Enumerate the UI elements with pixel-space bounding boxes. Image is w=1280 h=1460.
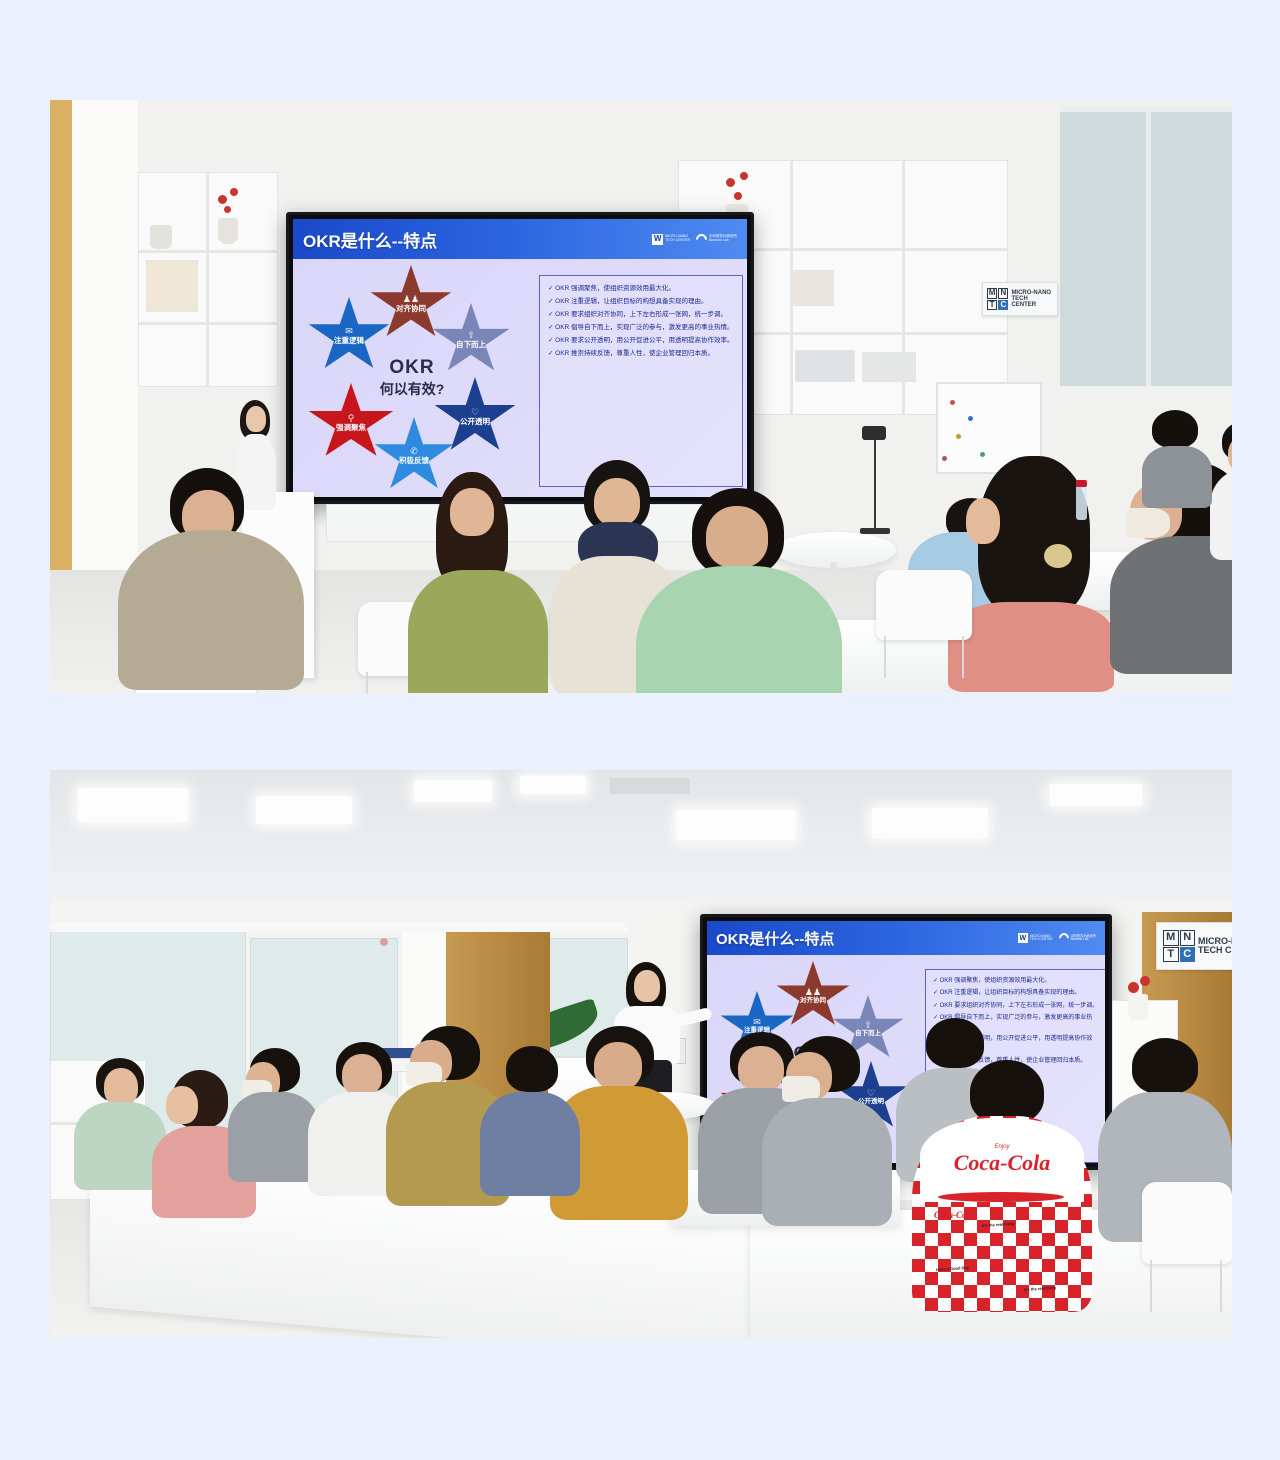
mic-base: [860, 528, 890, 534]
cola-brand-text: Coca-Cola: [954, 1150, 1051, 1176]
torso: [1210, 468, 1232, 560]
star-label: 自下而上: [456, 341, 486, 349]
head: [966, 498, 1000, 544]
flower-red: [218, 195, 227, 204]
mic-stand: [874, 432, 876, 532]
ceiling-vent: [610, 778, 690, 794]
flower-red: [726, 178, 735, 187]
attendee-grey-masked: [762, 1036, 892, 1222]
logo-line2: TECH CENTER: [1030, 938, 1053, 941]
envelope-icon: ✉: [753, 1018, 761, 1027]
mntc-letter-n: N: [1180, 930, 1196, 946]
head: [594, 1042, 642, 1090]
ceiling-light: [1050, 784, 1142, 806]
mntc-sign-text: MICRO-NANO TECH CENTER: [1198, 937, 1232, 956]
hair: [970, 1060, 1044, 1124]
star-label: 强调聚焦: [336, 424, 366, 432]
star-cluster: ♟♟ 对齐协同 ✉ 注重逻辑 ⇧ 自下而上 ⚲: [307, 265, 517, 497]
ceiling-light: [676, 810, 796, 840]
star-label: 对齐协同: [800, 998, 826, 1005]
slide-bullets-panel: OKR 强调聚焦，使组织资源效用最大化。 OKR 注重逻辑，让组织目标的构想具备…: [539, 275, 743, 487]
mntc-line1: MICRO-NANO: [1011, 290, 1053, 296]
bottle-cap: [1076, 480, 1087, 487]
slide-logos: W MICRO-NANO TECH CENTER 中科院苏州纳米所: [1018, 933, 1096, 943]
star-center-label: OKR 何以有效?: [363, 357, 461, 399]
torso: [228, 1092, 320, 1182]
window-frame-top: [1060, 106, 1232, 112]
head: [450, 488, 494, 536]
bullet-list: OKR 强调聚焦，使组织资源效用最大化。 OKR 注重逻辑，让组织目标的构想具备…: [548, 284, 734, 359]
attendee-coral: [948, 456, 1130, 686]
attendee-white-shirt: [1210, 420, 1232, 560]
chair-leg: [962, 636, 964, 678]
envelope-icon: ✉: [345, 327, 353, 336]
slide-logos: W MICRO-NANO TECH CENTER 中科院苏州纳米所: [652, 234, 737, 245]
logo-micro-nano: W MICRO-NANO TECH CENTER: [652, 234, 690, 245]
bullet-item: OKR 强调聚焦，使组织资源效用最大化。: [548, 284, 734, 294]
star-label: 公开透明: [460, 418, 490, 426]
mic-head: [862, 426, 886, 440]
head: [342, 1054, 382, 1096]
magnet-dot: [956, 434, 961, 439]
vase-left: [150, 225, 172, 249]
smoke-detector: [380, 938, 388, 946]
shelf-box: [146, 260, 198, 312]
mntc-letter-c: C: [1180, 947, 1196, 963]
flower-red: [230, 188, 238, 196]
mntc-logo-mark: M N T C: [1163, 930, 1195, 962]
logo-bionano: 中科院苏州纳米所 Bionano Lab: [696, 234, 737, 245]
water-bottle: [1076, 486, 1087, 520]
attendee-grey-rear: [1142, 410, 1212, 506]
ceiling-light: [872, 808, 988, 838]
torso: [948, 602, 1114, 692]
align-icon: ♟♟: [805, 988, 821, 997]
chair-leg: [1150, 1260, 1152, 1312]
hair: [1152, 410, 1198, 448]
window-mullion: [1146, 106, 1151, 386]
flower-red: [224, 206, 231, 213]
logo-swirl-icon: [694, 231, 710, 247]
logo-bionano-text: 中科院苏州纳米所 Bionano Lab: [1071, 935, 1097, 942]
bullet-item: OKR 要求公开透明，用公开促进公平，用透明提高协作效率。: [548, 336, 734, 346]
head: [104, 1068, 138, 1106]
mntc-sign-text: MICRO-NANO TECH CENTER: [1011, 290, 1053, 309]
vase-right-bottom: [1128, 994, 1148, 1020]
attendee-mint-tshirt: [636, 488, 842, 693]
star-label: 注重逻辑: [334, 337, 364, 345]
logo-bionano: 中科院苏州纳米所 Bionano Lab: [1059, 933, 1097, 943]
mntc-line2: TECH CENTER: [1198, 946, 1232, 955]
torso: [762, 1098, 892, 1226]
logo-micro-nano-text: MICRO-NANO TECH CENTER: [1030, 935, 1053, 942]
room-scene-bottom: OKR是什么--特点 W MICRO-NANO TECH CENTER: [50, 770, 1232, 1338]
star-label: 积极反馈: [399, 457, 429, 465]
bullet-item: OKR 倡导自下而上，实现广泛的参与，激发更高的事业热情。: [548, 323, 734, 333]
align-icon: ♟♟: [403, 295, 419, 304]
chair-leg: [1220, 1260, 1222, 1312]
wall-sign-mntc-bottom: M N T C MICRO-NANO TECH CENTER: [1156, 922, 1232, 970]
bullet-item: OKR 强调聚焦，使组织资源效用最大化。: [933, 977, 1099, 986]
star-label: 对齐协同: [396, 305, 426, 313]
vase-flower: [218, 218, 238, 244]
flower-red: [1128, 982, 1139, 993]
page-root: M N T C MICRO-NANO TECH CENTER: [0, 0, 1280, 1460]
slide-okr: OKR是什么--特点 W MICRO-NANO TECH CENTER: [293, 219, 747, 497]
slide-title: OKR是什么--特点: [303, 227, 437, 252]
slide-header: OKR是什么--特点 W MICRO-NANO TECH CENTER: [293, 219, 747, 259]
torso: [1142, 446, 1212, 508]
torso: [636, 566, 842, 693]
chair-empty: [1142, 1182, 1232, 1264]
bullet-item: OKR 推崇持续反馈，尊重人性，使企业管理回归本质。: [548, 349, 734, 359]
magnet-dot: [942, 456, 947, 461]
logo-micro-nano-text: MICRO-NANO TECH CENTER: [665, 235, 690, 242]
attendee-grey-1: [228, 1048, 320, 1178]
cola-brand-block: Enjoy Coca-Cola: [954, 1144, 1051, 1176]
slide-title: OKR是什么--特点: [716, 928, 834, 949]
flower-red: [1140, 976, 1150, 986]
ceiling-light: [78, 788, 188, 822]
mntc-letter-t: T: [987, 300, 997, 311]
flower-red: [734, 192, 742, 200]
head: [634, 970, 660, 1002]
heart-icon: ♡: [471, 408, 479, 417]
chair-leg: [884, 636, 886, 678]
center-question-text: 何以有效?: [363, 379, 461, 399]
mntc-letter-c: C: [998, 300, 1008, 311]
torso: [118, 530, 304, 690]
logo-mark-w: W: [1018, 933, 1028, 943]
bullet-item: OKR 要求组织对齐协同，上下左右形成一张网，统一步调。: [933, 1002, 1099, 1011]
head: [166, 1086, 198, 1124]
photo-bottom: OKR是什么--特点 W MICRO-NANO TECH CENTER: [50, 770, 1232, 1338]
head: [594, 478, 640, 526]
attendee-cola-jacket: Enjoy Coca-Cola It's the real thing Have…: [912, 1060, 1092, 1312]
logo-mark-w: W: [652, 234, 663, 245]
mntc-letter-n: N: [998, 288, 1008, 299]
mntc-letter-t: T: [1163, 947, 1179, 963]
slide-header: OKR是什么--特点 W MICRO-NANO TECH CENTER: [707, 921, 1105, 955]
hair-clip: [1044, 544, 1072, 568]
mntc-logo-mark: M N T C: [987, 288, 1008, 310]
mntc-line2: TECH CENTER: [1011, 296, 1053, 309]
shelf-books: [795, 350, 855, 382]
mntc-letter-m: M: [987, 288, 997, 299]
magnet-dot: [968, 416, 973, 421]
logo-line2: Bionano Lab: [709, 239, 737, 243]
partition-top-rail: [50, 922, 628, 932]
chair-leg: [366, 672, 368, 693]
ceiling-light: [256, 796, 352, 824]
mntc-letter-m: M: [1163, 930, 1179, 946]
cola-jacket-upper: Enjoy Coca-Cola: [920, 1118, 1084, 1202]
up-arrow-icon: ⇧: [467, 331, 475, 340]
logo-line2: TECH CENTER: [665, 239, 690, 243]
face-mask: [1126, 508, 1170, 538]
ceiling-light: [414, 780, 492, 802]
torso: [480, 1092, 580, 1196]
shelf-divider: [206, 172, 209, 387]
attendee-blue: [480, 1046, 580, 1194]
hair: [1132, 1038, 1198, 1094]
torso: [408, 570, 548, 693]
attendee-green-dress: [402, 472, 552, 693]
bullet-item: OKR 注重逻辑，让组织目标的构想具备实现的理由。: [548, 297, 734, 307]
chair-empty: [876, 570, 972, 640]
cola-swoosh: [938, 1192, 1064, 1202]
room-scene-top: M N T C MICRO-NANO TECH CENTER: [50, 100, 1232, 693]
flower-red: [740, 172, 748, 180]
shelf-books: [862, 352, 916, 382]
logo-bionano-text: 中科院苏州纳米所 Bionano Lab: [709, 235, 737, 242]
photo-top: M N T C MICRO-NANO TECH CENTER: [50, 100, 1232, 693]
center-okr-text: OKR: [363, 357, 461, 379]
head: [706, 506, 768, 568]
hair: [506, 1046, 558, 1092]
ceiling-light: [520, 776, 586, 794]
presenter-head: [246, 406, 266, 432]
phone-icon: ✆: [410, 447, 418, 456]
logo-line2: Bionano Lab: [1071, 938, 1097, 941]
shelf-picture-frame: [792, 270, 834, 306]
logo-micro-nano: W MICRO-NANO TECH CENTER: [1018, 933, 1053, 943]
bullet-item: OKR 注重逻辑，让组织目标的构想具备实现的理由。: [933, 989, 1099, 998]
cola-brand-small: Coca-Cola: [934, 1210, 974, 1220]
attendee-beige-sweater: [110, 468, 310, 693]
logo-swirl-icon: [1056, 931, 1070, 945]
wall-sign-mntc: M N T C MICRO-NANO TECH CENTER: [982, 282, 1058, 316]
up-arrow-icon: ⇧: [864, 1021, 872, 1030]
magnet-dot: [950, 400, 955, 405]
bullet-item: OKR 要求组织对齐协同，上下左右形成一张网，统一步调。: [548, 310, 734, 320]
magnifier-icon: ⚲: [348, 414, 355, 423]
